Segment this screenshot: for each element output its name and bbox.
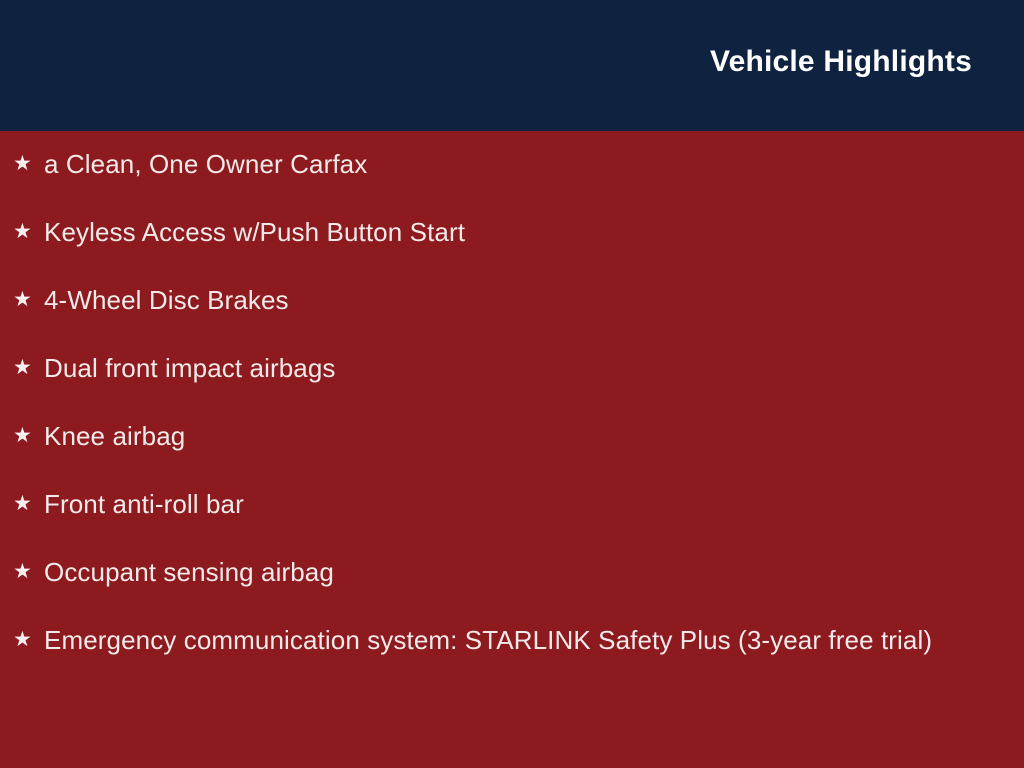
- list-item-label: Front anti-roll bar: [44, 486, 994, 522]
- slide-body: ★ a Clean, One Owner Carfax ★ Keyless Ac…: [0, 131, 1024, 768]
- page-title: Vehicle Highlights: [710, 44, 972, 80]
- list-item-label: Occupant sensing airbag: [44, 554, 994, 590]
- list-item-label: Keyless Access w/Push Button Start: [44, 214, 994, 250]
- list-item: ★ Dual front impact airbags: [12, 350, 994, 386]
- star-icon: ★: [12, 146, 44, 182]
- list-item-label: a Clean, One Owner Carfax: [44, 146, 994, 182]
- star-icon: ★: [12, 214, 44, 250]
- star-icon: ★: [12, 486, 44, 522]
- list-item-label: 4-Wheel Disc Brakes: [44, 282, 994, 318]
- star-icon: ★: [12, 622, 44, 658]
- list-item: ★ Keyless Access w/Push Button Start: [12, 214, 994, 250]
- list-item: ★ Front anti-roll bar: [12, 486, 994, 522]
- star-icon: ★: [12, 554, 44, 590]
- list-item: ★ Knee airbag: [12, 418, 994, 454]
- list-item: ★ Occupant sensing airbag: [12, 554, 994, 590]
- star-icon: ★: [12, 282, 44, 318]
- list-item-label: Knee airbag: [44, 418, 994, 454]
- vehicle-highlights-slide: Vehicle Highlights ★ a Clean, One Owner …: [0, 0, 1024, 768]
- star-icon: ★: [12, 418, 44, 454]
- list-item-label: Dual front impact airbags: [44, 350, 994, 386]
- list-item: ★ 4-Wheel Disc Brakes: [12, 282, 994, 318]
- list-item: ★ a Clean, One Owner Carfax: [12, 146, 994, 182]
- list-item-label: Emergency communication system: STARLINK…: [44, 622, 994, 658]
- star-icon: ★: [12, 350, 44, 386]
- list-item: ★ Emergency communication system: STARLI…: [12, 622, 994, 658]
- vehicle-highlights-list: ★ a Clean, One Owner Carfax ★ Keyless Ac…: [12, 146, 994, 658]
- slide-header-bar: Vehicle Highlights: [0, 0, 1024, 131]
